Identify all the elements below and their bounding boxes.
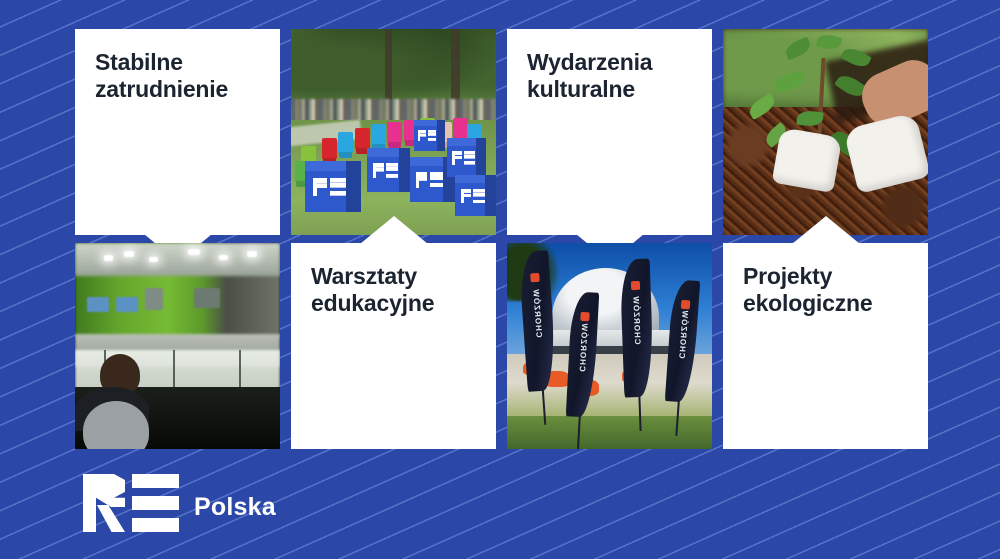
photo-re-cube bbox=[305, 161, 360, 213]
photo-chair bbox=[453, 118, 468, 139]
photo-chair bbox=[387, 122, 402, 143]
photo-chair bbox=[338, 132, 353, 153]
tile-office-workplace bbox=[75, 243, 280, 449]
photo-monitor bbox=[194, 288, 220, 308]
flag-label: CHORZÓW bbox=[631, 295, 642, 345]
tile-wydarzenia-kulturalne: Wydarzenia kulturalne bbox=[507, 29, 712, 235]
brand-logo[interactable]: Polska bbox=[83, 474, 276, 532]
photo-glove bbox=[772, 127, 843, 193]
card-wydarzenia-kulturalne[interactable]: Wydarzenia kulturalne bbox=[507, 29, 712, 235]
flag-label: CHORZÓW bbox=[577, 323, 589, 373]
flag-label: CHORZÓW bbox=[677, 309, 689, 359]
flag-label: CHORZÓW bbox=[532, 288, 544, 338]
photo-ceiling-lamp bbox=[219, 255, 228, 260]
logo-letter-r-icon bbox=[83, 474, 125, 532]
card-warsztaty-edukacyjne[interactable]: Warsztaty edukacyjne bbox=[291, 243, 496, 449]
card-stabilne-zatrudnienie[interactable]: Stabilne zatrudnienie bbox=[75, 29, 280, 235]
photo-chair bbox=[371, 124, 386, 145]
card-title: Projekty ekologiczne bbox=[743, 263, 916, 317]
tile-tree-planting bbox=[723, 29, 928, 235]
speech-tail-up-icon bbox=[360, 216, 428, 244]
card-projekty-ekologiczne[interactable]: Projekty ekologiczne bbox=[723, 243, 928, 449]
tile-warsztaty-edukacyjne: Warsztaty edukacyjne bbox=[291, 243, 496, 449]
photo-ceiling-lamp bbox=[104, 255, 113, 261]
photo-monitor bbox=[145, 288, 163, 310]
photo-park-event[interactable] bbox=[291, 29, 496, 235]
photo-chair bbox=[322, 138, 337, 159]
photo-monitor bbox=[116, 297, 138, 312]
card-title: Stabilne zatrudnienie bbox=[95, 49, 268, 103]
photo-re-cube bbox=[414, 120, 445, 151]
photo-re-cube bbox=[447, 138, 486, 177]
card-title: Warsztaty edukacyjne bbox=[311, 263, 484, 317]
speech-tail-up-icon bbox=[792, 216, 860, 244]
photo-ceiling-lamp bbox=[149, 257, 158, 262]
card-title: Wydarzenia kulturalne bbox=[527, 49, 700, 103]
photo-chorzow-flags[interactable]: CHORZÓW CHORZÓW CHORZÓW CHORZÓW bbox=[507, 243, 712, 449]
photo-re-cube bbox=[367, 148, 410, 191]
photo-office-workplace[interactable] bbox=[75, 243, 280, 449]
photo-ceiling-lamp bbox=[188, 249, 200, 255]
tile-chorzow-flags: CHORZÓW CHORZÓW CHORZÓW CHORZÓW bbox=[507, 243, 712, 449]
tile-park-event bbox=[291, 29, 496, 235]
photo-chair bbox=[355, 128, 370, 149]
logo-letter-e-icon bbox=[132, 474, 179, 532]
content-grid: Stabilne zatrudnienie bbox=[75, 29, 928, 449]
tile-projekty-ekologiczne: Projekty ekologiczne bbox=[723, 243, 928, 449]
photo-lawn bbox=[507, 416, 712, 449]
photo-tree-canopy bbox=[291, 29, 496, 107]
photo-re-cube bbox=[455, 175, 496, 216]
tile-stabilne-zatrudnienie: Stabilne zatrudnienie bbox=[75, 29, 280, 235]
logo-wordmark: Polska bbox=[194, 493, 276, 522]
photo-ceiling-lamp bbox=[124, 251, 134, 257]
photo-monitor bbox=[87, 297, 109, 312]
photo-ceiling-lamp bbox=[247, 251, 257, 257]
photo-tree-planting[interactable] bbox=[723, 29, 928, 235]
re-logomark-icon bbox=[83, 474, 179, 532]
